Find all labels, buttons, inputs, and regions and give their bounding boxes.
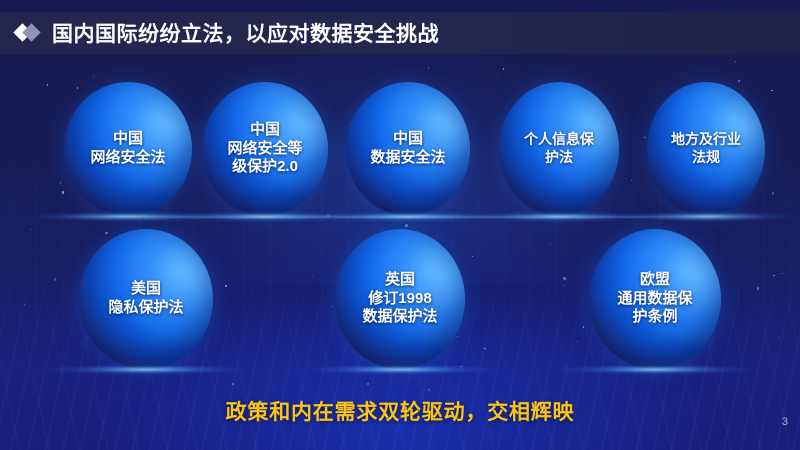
star-dot <box>772 192 775 195</box>
star-dot <box>62 191 65 194</box>
star-dot <box>752 338 753 339</box>
law-sphere-label: 中国 网络安全等 级保护2.0 <box>227 121 302 178</box>
star-dot <box>563 277 566 280</box>
star-dot <box>24 304 25 305</box>
star-dot <box>409 218 410 219</box>
star-dot <box>577 341 578 342</box>
star-dot <box>644 137 645 138</box>
star-dot <box>331 306 332 307</box>
law-sphere[interactable]: 中国 网络安全法 <box>64 82 192 216</box>
slide-canvas: 国内国际纷纷立法，以应对数据安全挑战 中国 网络安全法中国 网络安全等 级保护2… <box>0 0 800 450</box>
footer-tagline: 政策和内在需求双轮驱动，交相辉映 <box>0 396 800 426</box>
diamond-icon <box>16 22 42 44</box>
star-dot <box>457 336 458 337</box>
law-sphere[interactable]: 欧盟 通用数据保 护条例 <box>589 229 721 369</box>
star-dot <box>704 390 705 391</box>
law-sphere-label: 美国 隐私保护法 <box>108 280 183 318</box>
star-dot <box>47 84 48 85</box>
star-dot <box>550 244 551 245</box>
page-title: 国内国际纷纷立法，以应对数据安全挑战 <box>52 18 439 48</box>
star-dot <box>735 61 736 62</box>
background-starfield <box>0 0 800 450</box>
star-dot <box>405 224 408 227</box>
law-sphere-label: 个人信息保 护法 <box>524 131 594 166</box>
law-sphere[interactable]: 美国 隐私保护法 <box>79 229 213 369</box>
law-sphere[interactable]: 个人信息保 护法 <box>499 82 619 216</box>
star-dot <box>312 275 313 276</box>
law-sphere-label: 地方及行业 法规 <box>671 131 741 166</box>
law-sphere[interactable]: 英国 修订1998 数据保护法 <box>335 229 465 369</box>
star-dot <box>503 68 504 69</box>
law-sphere-label: 英国 修订1998 数据保护法 <box>362 271 437 328</box>
star-dot <box>232 383 235 386</box>
star-dot <box>771 90 772 91</box>
star-dot <box>31 229 32 230</box>
law-sphere-label: 中国 数据安全法 <box>370 130 445 168</box>
star-dot <box>54 278 57 281</box>
law-sphere[interactable]: 中国 网络安全等 级保护2.0 <box>202 82 328 216</box>
star-dot <box>60 182 61 183</box>
star-dot <box>757 287 760 290</box>
law-sphere-label: 欧盟 通用数据保 护条例 <box>617 271 692 328</box>
star-dot <box>782 273 783 274</box>
page-number: 3 <box>782 416 788 428</box>
star-dot <box>773 275 774 276</box>
star-dot <box>472 256 473 257</box>
star-dot <box>225 285 226 286</box>
star-dot <box>778 336 779 337</box>
star-dot <box>105 232 108 235</box>
star-dot <box>484 348 485 349</box>
law-sphere-label: 中国 网络安全法 <box>90 130 165 168</box>
star-dot <box>428 389 429 390</box>
star-dot <box>583 326 584 327</box>
law-sphere[interactable]: 地方及行业 法规 <box>647 82 765 216</box>
star-dot <box>67 256 68 257</box>
star-dot <box>93 76 94 77</box>
star-dot <box>77 87 78 88</box>
star-dot <box>367 383 370 386</box>
star-dot <box>497 78 498 79</box>
star-dot <box>631 180 632 181</box>
star-dot <box>738 80 741 83</box>
star-dot <box>460 366 461 367</box>
star-dot <box>555 222 556 223</box>
law-sphere[interactable]: 中国 数据安全法 <box>346 82 470 216</box>
slide-title-bar: 国内国际纷纷立法，以应对数据安全挑战 <box>0 12 800 54</box>
star-dot <box>564 285 565 286</box>
star-dot <box>428 67 429 68</box>
star-dot <box>327 215 330 218</box>
star-dot <box>81 343 82 344</box>
